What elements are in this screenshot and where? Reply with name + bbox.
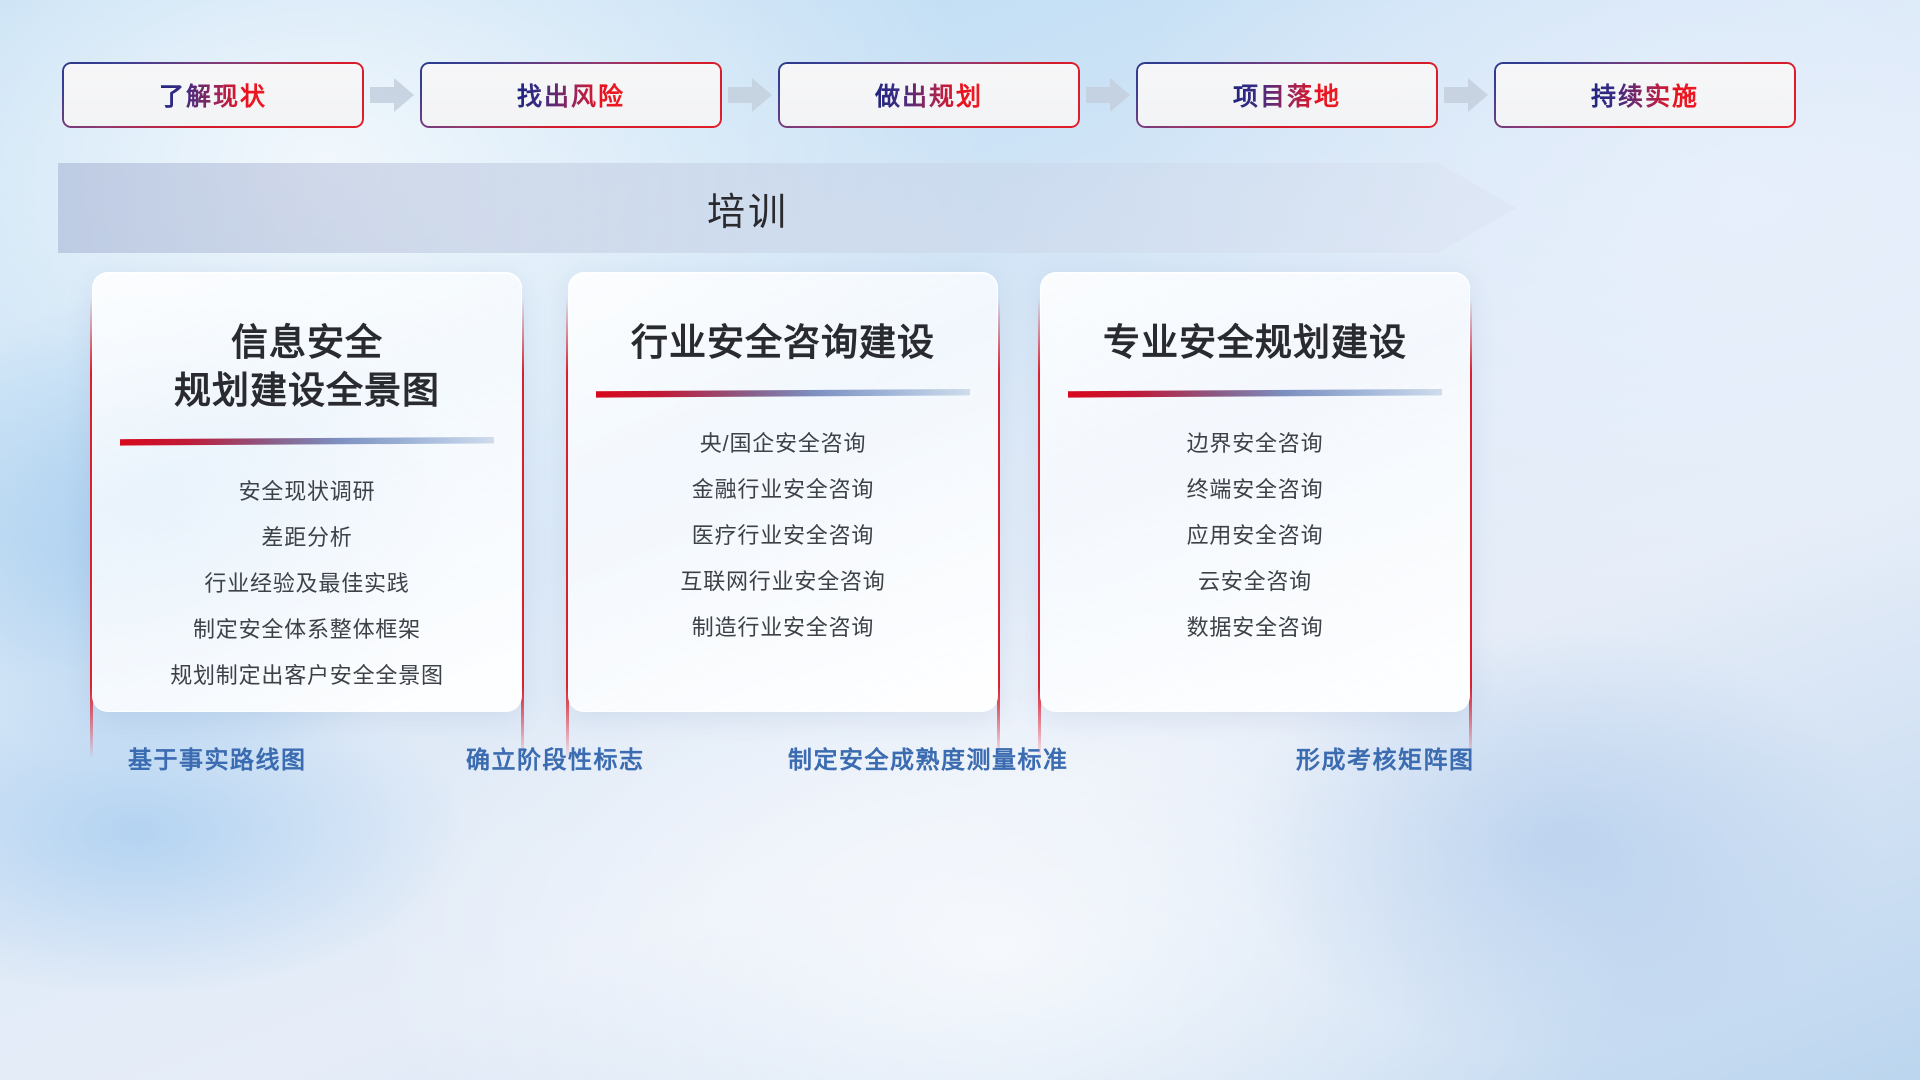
service-card-2[interactable]: 行业安全咨询建设央/国企安全咨询金融行业安全咨询医疗行业安全咨询互联网行业安全咨…: [568, 272, 998, 712]
card-list-item[interactable]: 应用安全咨询: [1187, 520, 1324, 552]
card-list-item[interactable]: 行业经验及最佳实践: [204, 568, 409, 600]
card-list-item[interactable]: 边界安全咨询: [1187, 428, 1324, 460]
card-title: 行业安全咨询建设: [631, 319, 935, 367]
card-list-item[interactable]: 安全现状调研: [239, 476, 376, 508]
process-step-1[interactable]: 了解现状: [62, 62, 364, 128]
card-accent-edge-right: [521, 299, 524, 759]
chevron-right-arrow-icon: [367, 75, 417, 115]
training-banner: 培训: [58, 163, 1516, 253]
card-divider: [120, 437, 494, 446]
bottom-label-3: 制定安全成熟度测量标准: [788, 740, 1069, 775]
bottom-label-4: 形成考核矩阵图: [1296, 740, 1475, 775]
chevron-right-arrow-icon: [1083, 75, 1133, 115]
card-accent-edge-right: [1469, 299, 1472, 759]
card-list-item[interactable]: 终端安全咨询: [1187, 474, 1324, 506]
process-step-label: 了解现状: [159, 77, 267, 113]
card-list-item[interactable]: 金融行业安全咨询: [692, 474, 874, 506]
process-step-4[interactable]: 项目落地: [1136, 62, 1438, 128]
bottom-label-row: 基于事实路线图确立阶段性标志制定安全成熟度测量标准形成考核矩阵图: [0, 740, 1920, 790]
card-list-item[interactable]: 互联网行业安全咨询: [680, 566, 885, 598]
card-content: 专业安全规划建设边界安全咨询终端安全咨询应用安全咨询云安全咨询数据安全咨询: [1041, 273, 1469, 711]
service-card-1[interactable]: 信息安全 规划建设全景图安全现状调研差距分析行业经验及最佳实践制定安全体系整体框…: [92, 272, 522, 712]
card-divider: [1068, 389, 1442, 398]
process-step-label: 做出规划: [875, 77, 983, 113]
process-step-label: 持续实施: [1591, 77, 1699, 113]
card-title: 专业安全规划建设: [1103, 319, 1407, 367]
process-step-label: 找出风险: [517, 77, 625, 113]
banner-title: 培训: [58, 163, 1438, 253]
card-list-item[interactable]: 规划制定出客户安全全景图: [170, 660, 444, 692]
card-content: 信息安全 规划建设全景图安全现状调研差距分析行业经验及最佳实践制定安全体系整体框…: [93, 273, 521, 711]
process-step-label: 项目落地: [1233, 77, 1341, 113]
process-step-5[interactable]: 持续实施: [1494, 62, 1796, 128]
process-step-3[interactable]: 做出规划: [778, 62, 1080, 128]
card-divider: [596, 389, 970, 398]
service-card-3[interactable]: 专业安全规划建设边界安全咨询终端安全咨询应用安全咨询云安全咨询数据安全咨询: [1040, 272, 1470, 712]
card-list-item[interactable]: 数据安全咨询: [1187, 612, 1324, 644]
card-list-item[interactable]: 制定安全体系整体框架: [193, 614, 421, 646]
process-step-row: 了解现状找出风险做出规划项目落地持续实施: [0, 61, 1920, 129]
card-content: 行业安全咨询建设央/国企安全咨询金融行业安全咨询医疗行业安全咨询互联网行业安全咨…: [569, 273, 997, 711]
card-list-item[interactable]: 央/国企安全咨询: [700, 428, 867, 460]
card-list-item[interactable]: 差距分析: [261, 522, 352, 554]
card-item-list: 央/国企安全咨询金融行业安全咨询医疗行业安全咨询互联网行业安全咨询制造行业安全咨…: [569, 428, 997, 643]
card-list-item[interactable]: 医疗行业安全咨询: [692, 520, 874, 552]
card-accent-edge-right: [997, 299, 1000, 759]
card-title: 信息安全 规划建设全景图: [174, 319, 440, 415]
card-list-item[interactable]: 云安全咨询: [1198, 566, 1312, 598]
bottom-label-1: 基于事实路线图: [128, 740, 307, 775]
card-item-list: 边界安全咨询终端安全咨询应用安全咨询云安全咨询数据安全咨询: [1041, 428, 1469, 643]
card-list-item[interactable]: 制造行业安全咨询: [692, 612, 874, 644]
card-item-list: 安全现状调研差距分析行业经验及最佳实践制定安全体系整体框架规划制定出客户安全全景…: [93, 476, 521, 691]
bottom-label-2: 确立阶段性标志: [466, 740, 645, 775]
process-step-2[interactable]: 找出风险: [420, 62, 722, 128]
chevron-right-arrow-icon: [725, 75, 775, 115]
card-row: 信息安全 规划建设全景图安全现状调研差距分析行业经验及最佳实践制定安全体系整体框…: [0, 272, 1920, 722]
chevron-right-arrow-icon: [1441, 75, 1491, 115]
